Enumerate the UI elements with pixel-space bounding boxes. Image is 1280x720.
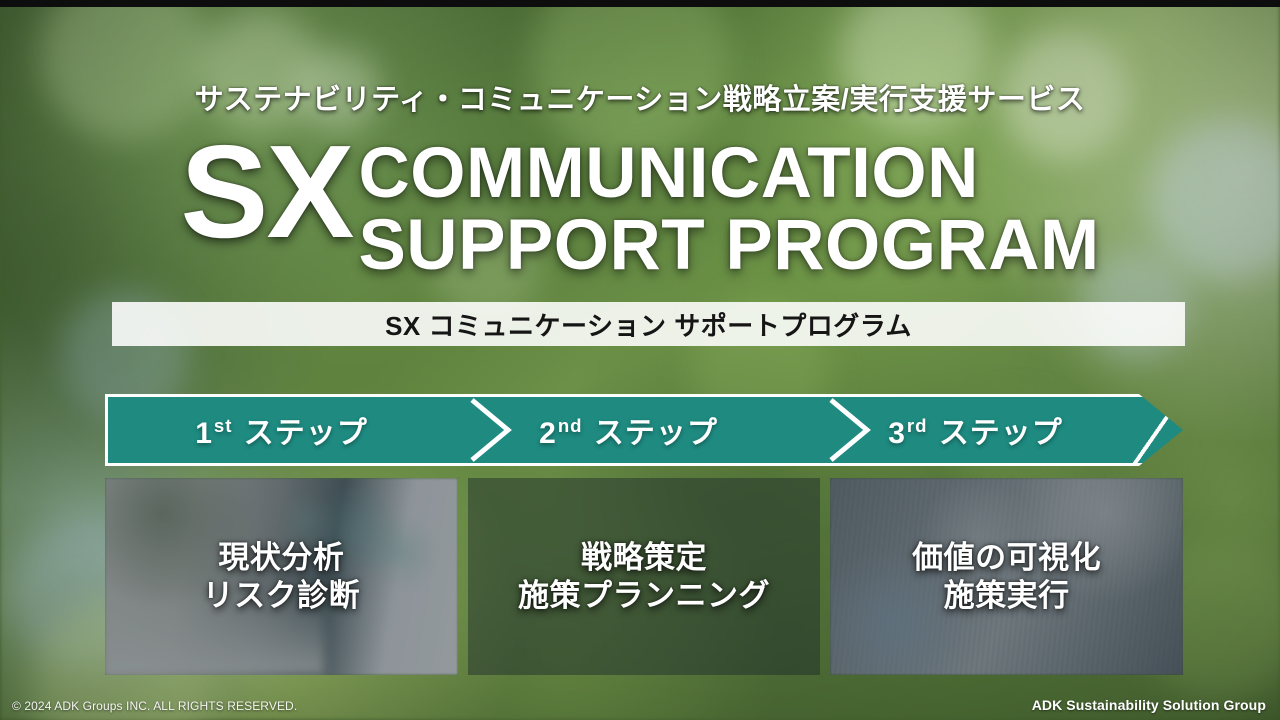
step-word-1: ステップ <box>244 417 368 450</box>
eyebrow-text: サステナビリティ・コミュニケーション戦略立案/実行支援サービス <box>0 76 1280 118</box>
panel-caption-3-line-2: 施策実行 <box>912 577 1101 615</box>
step-arrow-band: 1st ステップ 2nd ステップ 3rd ステップ <box>105 394 1183 466</box>
step-ordinal-3: rd <box>907 415 928 436</box>
step-item-2[interactable]: 2nd ステップ <box>455 394 802 466</box>
panel-caption-3: 価値の可視化 施策実行 <box>912 539 1101 615</box>
panel-caption-1: 現状分析 リスク診断 <box>203 539 361 615</box>
panel-step-2[interactable]: 戦略策定 施策プランニング <box>468 478 821 675</box>
title-line-support-program: SUPPORT PROGRAM <box>358 210 1099 282</box>
page-title: SX COMMUNICATION SUPPORT PROGRAM <box>0 132 1280 283</box>
subtitle-band-text: SX コミュニケーション サポートプログラム <box>385 306 912 343</box>
panel-caption-2-line-2: 施策プランニング <box>518 577 770 615</box>
title-sx-mark: SX <box>180 128 352 256</box>
panel-step-3[interactable]: 価値の可視化 施策実行 <box>830 478 1183 675</box>
panel-caption-1-line-1: 現状分析 <box>203 539 361 577</box>
panel-caption-2-line-1: 戦略策定 <box>518 539 770 577</box>
step-item-3[interactable]: 3rd ステップ <box>802 394 1183 466</box>
step-label-3: 3rd ステップ <box>888 408 1063 452</box>
panel-caption-2: 戦略策定 施策プランニング <box>518 539 770 615</box>
step-number-1: 1 <box>195 417 213 450</box>
panel-caption-1-line-2: リスク診断 <box>203 577 361 615</box>
panel-row: 現状分析 リスク診断 戦略策定 施策プランニング 価値の可視化 施策実行 <box>105 478 1183 675</box>
step-word-3: ステップ <box>939 417 1063 450</box>
title-lines: COMMUNICATION SUPPORT PROGRAM <box>358 138 1099 283</box>
subtitle-band: SX コミュニケーション サポートプログラム <box>112 302 1185 346</box>
panel-caption-3-line-1: 価値の可視化 <box>912 539 1101 577</box>
step-ordinal-2: nd <box>558 415 583 436</box>
step-number-3: 3 <box>888 417 906 450</box>
step-label-1: 1st ステップ <box>195 408 368 452</box>
slide-canvas: サステナビリティ・コミュニケーション戦略立案/実行支援サービス SX COMMU… <box>0 0 1280 720</box>
panel-step-1[interactable]: 現状分析 リスク診断 <box>105 478 458 675</box>
step-word-2: ステップ <box>594 417 718 450</box>
footer-copyright: © 2024 ADK Groups INC. ALL RIGHTS RESERV… <box>12 699 297 713</box>
footer-brand: ADK Sustainability Solution Group <box>1032 697 1266 713</box>
step-number-2: 2 <box>539 417 557 450</box>
title-line-communication: COMMUNICATION <box>358 138 1099 210</box>
top-black-bar <box>0 0 1280 7</box>
step-ordinal-1: st <box>214 415 233 436</box>
step-item-1[interactable]: 1st ステップ <box>105 394 455 466</box>
step-label-2: 2nd ステップ <box>539 408 718 452</box>
